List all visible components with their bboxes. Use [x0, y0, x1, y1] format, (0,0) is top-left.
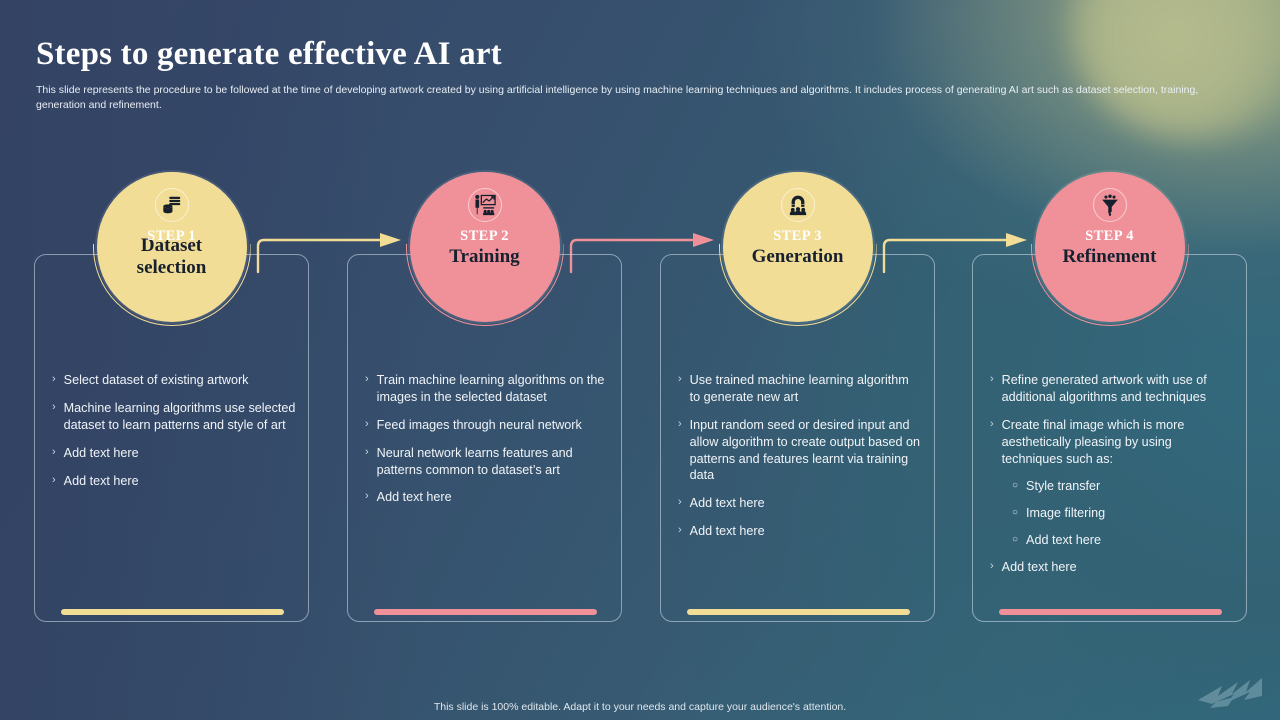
chevron-right-icon: › [990, 559, 994, 576]
sub-bullet-item: ○Image filtering [1012, 505, 1234, 522]
chevron-right-icon: › [52, 372, 56, 389]
bullet-item: ›Add text here [365, 489, 609, 506]
card-accent-bar [61, 609, 284, 615]
bullet-item: ›Machine learning algorithms use selecte… [52, 400, 296, 434]
step-bullet-list: ›Train machine learning algorithms on th… [365, 372, 609, 517]
bullet-item: ›Neural network learns features and patt… [365, 445, 609, 479]
bullet-text: Add text here [690, 523, 765, 540]
chevron-right-icon: › [52, 400, 56, 434]
magnet-audience-icon [787, 194, 809, 216]
step-title: Refinement [1051, 246, 1169, 268]
chevron-right-icon: › [365, 417, 369, 434]
step-number-label: STEP 3 [773, 228, 822, 245]
sub-bullet-item: ○Style transfer [1012, 478, 1234, 495]
magnet-audience-icon [781, 188, 815, 222]
step-bullet-list: ›Refine generated artwork with use of ad… [990, 372, 1234, 587]
bullet-text: Add text here [690, 495, 765, 512]
sub-bullet-text: Add text here [1026, 532, 1101, 549]
bullet-text: Create final image which is more aesthet… [1002, 417, 1234, 468]
bullet-item: ›Add text here [52, 473, 296, 490]
chevron-right-icon: › [990, 372, 994, 406]
chevron-right-icon: › [678, 417, 682, 485]
step-number-label: STEP 2 [460, 228, 509, 245]
chevron-right-icon: › [365, 372, 369, 406]
circle-bullet-icon: ○ [1012, 505, 1018, 522]
chevron-right-icon: › [678, 495, 682, 512]
sub-bullet-item: ○Add text here [1012, 532, 1234, 549]
step-title: Training [437, 246, 531, 268]
bullet-text: Add text here [377, 489, 452, 506]
bullet-item: ›Use trained machine learning algorithm … [678, 372, 922, 406]
card-accent-bar [374, 609, 597, 615]
bullet-text: Add text here [64, 445, 139, 462]
funnel-filter-icon [1099, 194, 1121, 216]
bullet-item: ›Train machine learning algorithms on th… [365, 372, 609, 406]
bullet-text: Refine generated artwork with use of add… [1002, 372, 1234, 406]
bullet-text: Train machine learning algorithms on the… [377, 372, 609, 406]
database-stack-icon [161, 194, 183, 216]
chevron-right-icon: › [365, 489, 369, 506]
training-presentation-icon [468, 188, 502, 222]
bullet-item: ›Add text here [52, 445, 296, 462]
card-accent-bar [999, 609, 1222, 615]
steps-container: Dataset selection STEP 1›Select dataset … [0, 0, 1280, 720]
training-presentation-icon [473, 194, 497, 216]
step-bullet-list: ›Use trained machine learning algorithm … [678, 372, 922, 551]
sub-bullet-text: Style transfer [1026, 478, 1100, 495]
chevron-right-icon: › [52, 445, 56, 462]
chevron-right-icon: › [52, 473, 56, 490]
funnel-filter-icon [1093, 188, 1127, 222]
chevron-right-icon: › [678, 523, 682, 540]
circle-bullet-icon: ○ [1012, 532, 1018, 549]
bullet-text: Add text here [64, 473, 139, 490]
bullet-item: ›Feed images through neural network [365, 417, 609, 434]
bullet-text: Neural network learns features and patte… [377, 445, 609, 479]
bullet-text: Machine learning algorithms use selected… [64, 400, 296, 434]
card-accent-bar [687, 609, 910, 615]
step-bullet-list: ›Select dataset of existing artwork›Mach… [52, 372, 296, 500]
circle-bullet-icon: ○ [1012, 478, 1018, 495]
bullet-item: ›Add text here [678, 495, 922, 512]
step-number-label: STEP 4 [1085, 228, 1134, 245]
step-number-label: STEP 1 [147, 228, 196, 245]
step-title: Generation [740, 246, 856, 268]
database-stack-icon [155, 188, 189, 222]
bullet-item: ›Add text here [678, 523, 922, 540]
bullet-item: ›Add text here [990, 559, 1234, 576]
bullet-text: Feed images through neural network [377, 417, 582, 434]
bullet-text: Select dataset of existing artwork [64, 372, 249, 389]
chevron-right-icon: › [678, 372, 682, 406]
sub-bullet-text: Image filtering [1026, 505, 1105, 522]
bullet-text: Input random seed or desired input and a… [690, 417, 922, 485]
bullet-item: ›Input random seed or desired input and … [678, 417, 922, 485]
bullet-item: ›Refine generated artwork with use of ad… [990, 372, 1234, 406]
sub-bullet-list: ○Style transfer○Image filtering○Add text… [990, 478, 1234, 549]
footer-note: This slide is 100% editable. Adapt it to… [0, 701, 1280, 713]
bullet-item: ›Create final image which is more aesthe… [990, 417, 1234, 468]
bullet-text: Add text here [1002, 559, 1077, 576]
bullet-item: ›Select dataset of existing artwork [52, 372, 296, 389]
brand-watermark-icon [1188, 656, 1274, 714]
bullet-text: Use trained machine learning algorithm t… [690, 372, 922, 406]
slide-canvas: Steps to generate effective AI art This … [0, 0, 1280, 720]
chevron-right-icon: › [990, 417, 994, 468]
chevron-right-icon: › [365, 445, 369, 479]
